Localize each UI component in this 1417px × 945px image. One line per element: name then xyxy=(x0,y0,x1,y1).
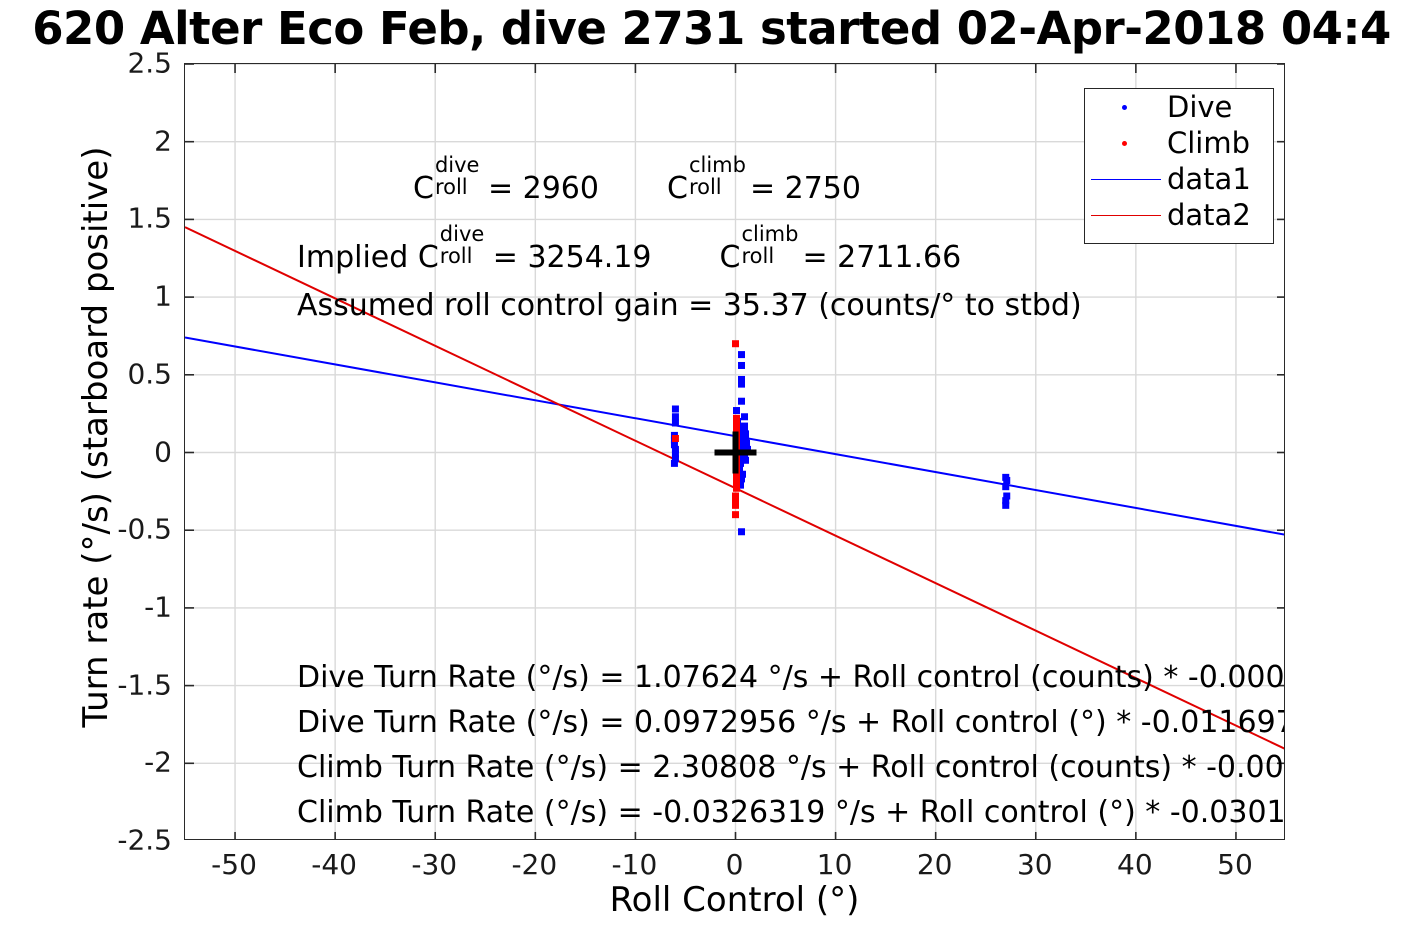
x-tick-label: -40 xyxy=(279,848,389,881)
c-dive-symbol: C xyxy=(413,171,434,206)
c-climb-symbol: C xyxy=(667,171,688,206)
annotation-implied-c-roll: Implied Cdiveroll= 3254.19Cclimbroll= 27… xyxy=(297,237,961,273)
c-dive-subscript: roll xyxy=(435,177,468,198)
implied-dive-value: = 3254.19 xyxy=(493,240,652,275)
legend-marker-swatch xyxy=(1085,125,1167,161)
annotation-c-roll-constants: Cdiveroll= 2960Cclimbroll= 2750 xyxy=(413,168,861,204)
chart-title-text: 620 Alter Eco Feb, dive 2731 started 02-… xyxy=(32,2,1391,56)
y-tick-label: 1.5 xyxy=(100,202,172,235)
implied-climb-superscript: climb xyxy=(741,224,798,245)
implied-prefix: Implied C xyxy=(297,240,439,275)
x-axis-label: Roll Control (°) xyxy=(184,880,1285,920)
x-tick-label: -10 xyxy=(579,848,689,881)
legend-item-label: Dive xyxy=(1167,93,1232,122)
y-tick-label: -1.5 xyxy=(100,668,172,701)
legend-item-data2[interactable]: data2 xyxy=(1085,197,1273,233)
legend-item-label: data1 xyxy=(1167,165,1251,194)
c-dive-value: = 2960 xyxy=(488,171,599,206)
legend-item-climb[interactable]: Climb xyxy=(1085,125,1273,161)
implied-climb-value: = 2711.66 xyxy=(802,240,961,275)
equation-dive-degrees: Dive Turn Rate (°/s) = 0.0972956 °/s + R… xyxy=(297,705,1285,740)
legend-line-swatch xyxy=(1085,197,1167,233)
y-tick-label: 2 xyxy=(100,124,172,157)
x-tick-label: -50 xyxy=(179,848,289,881)
equation-climb-degrees: Climb Turn Rate (°/s) = -0.0326319 °/s +… xyxy=(297,795,1285,830)
legend-line-swatch xyxy=(1085,161,1167,197)
x-tick-label: 30 xyxy=(980,848,1090,881)
equation-dive-counts: Dive Turn Rate (°/s) = 1.07624 °/s + Rol… xyxy=(297,660,1285,695)
legend-item-dive[interactable]: Dive xyxy=(1085,89,1273,125)
c-climb-value: = 2750 xyxy=(750,171,861,206)
dive-data-points xyxy=(671,351,1010,535)
equation-climb-counts: Climb Turn Rate (°/s) = 2.30808 °/s + Ro… xyxy=(297,750,1285,785)
x-tick-label: -30 xyxy=(379,848,489,881)
implied-dive-superscript: dive xyxy=(440,224,485,245)
implied-climb-symbol: C xyxy=(720,240,741,275)
implied-climb-subscript: roll xyxy=(741,246,774,267)
c-dive-superscript: dive xyxy=(435,155,480,176)
legend-item-label: data2 xyxy=(1167,201,1251,230)
legend-line-icon xyxy=(1091,215,1161,216)
origin-cross-marker xyxy=(715,432,757,474)
x-tick-label: 40 xyxy=(1080,848,1190,881)
y-tick-label: 2.5 xyxy=(100,47,172,80)
y-tick-label: 1 xyxy=(100,280,172,313)
y-tick-label: -2.5 xyxy=(100,824,172,857)
legend-item-label: Climb xyxy=(1167,129,1250,158)
y-tick-label: -1 xyxy=(100,590,172,623)
y-axis-ticks: 2.521.510.50-0.5-1-1.5-2-2.5 xyxy=(100,63,172,840)
x-tick-label: 10 xyxy=(780,848,890,881)
x-tick-label: 0 xyxy=(680,848,790,881)
y-tick-label: -2 xyxy=(100,746,172,779)
climb-data-points xyxy=(672,340,740,518)
y-tick-label: -0.5 xyxy=(100,513,172,546)
legend-line-icon xyxy=(1091,179,1161,180)
x-tick-label: 50 xyxy=(1180,848,1290,881)
legend: DiveClimbdata1data2 xyxy=(1084,88,1274,244)
legend-marker-icon xyxy=(1122,141,1127,146)
legend-marker-swatch xyxy=(1085,89,1167,125)
y-tick-label: 0.5 xyxy=(100,357,172,390)
c-climb-subscript: roll xyxy=(689,177,722,198)
implied-dive-subscript: roll xyxy=(440,246,473,267)
c-climb-superscript: climb xyxy=(689,155,746,176)
x-tick-label: -20 xyxy=(479,848,589,881)
page-title: 620 Alter Eco Feb, dive 2731 started 02-… xyxy=(0,2,1417,56)
y-tick-label: 0 xyxy=(100,435,172,468)
legend-marker-icon xyxy=(1122,105,1127,110)
legend-item-data1[interactable]: data1 xyxy=(1085,161,1273,197)
x-tick-label: 20 xyxy=(880,848,990,881)
annotation-roll-control-gain: Assumed roll control gain = 35.37 (count… xyxy=(297,291,1082,321)
